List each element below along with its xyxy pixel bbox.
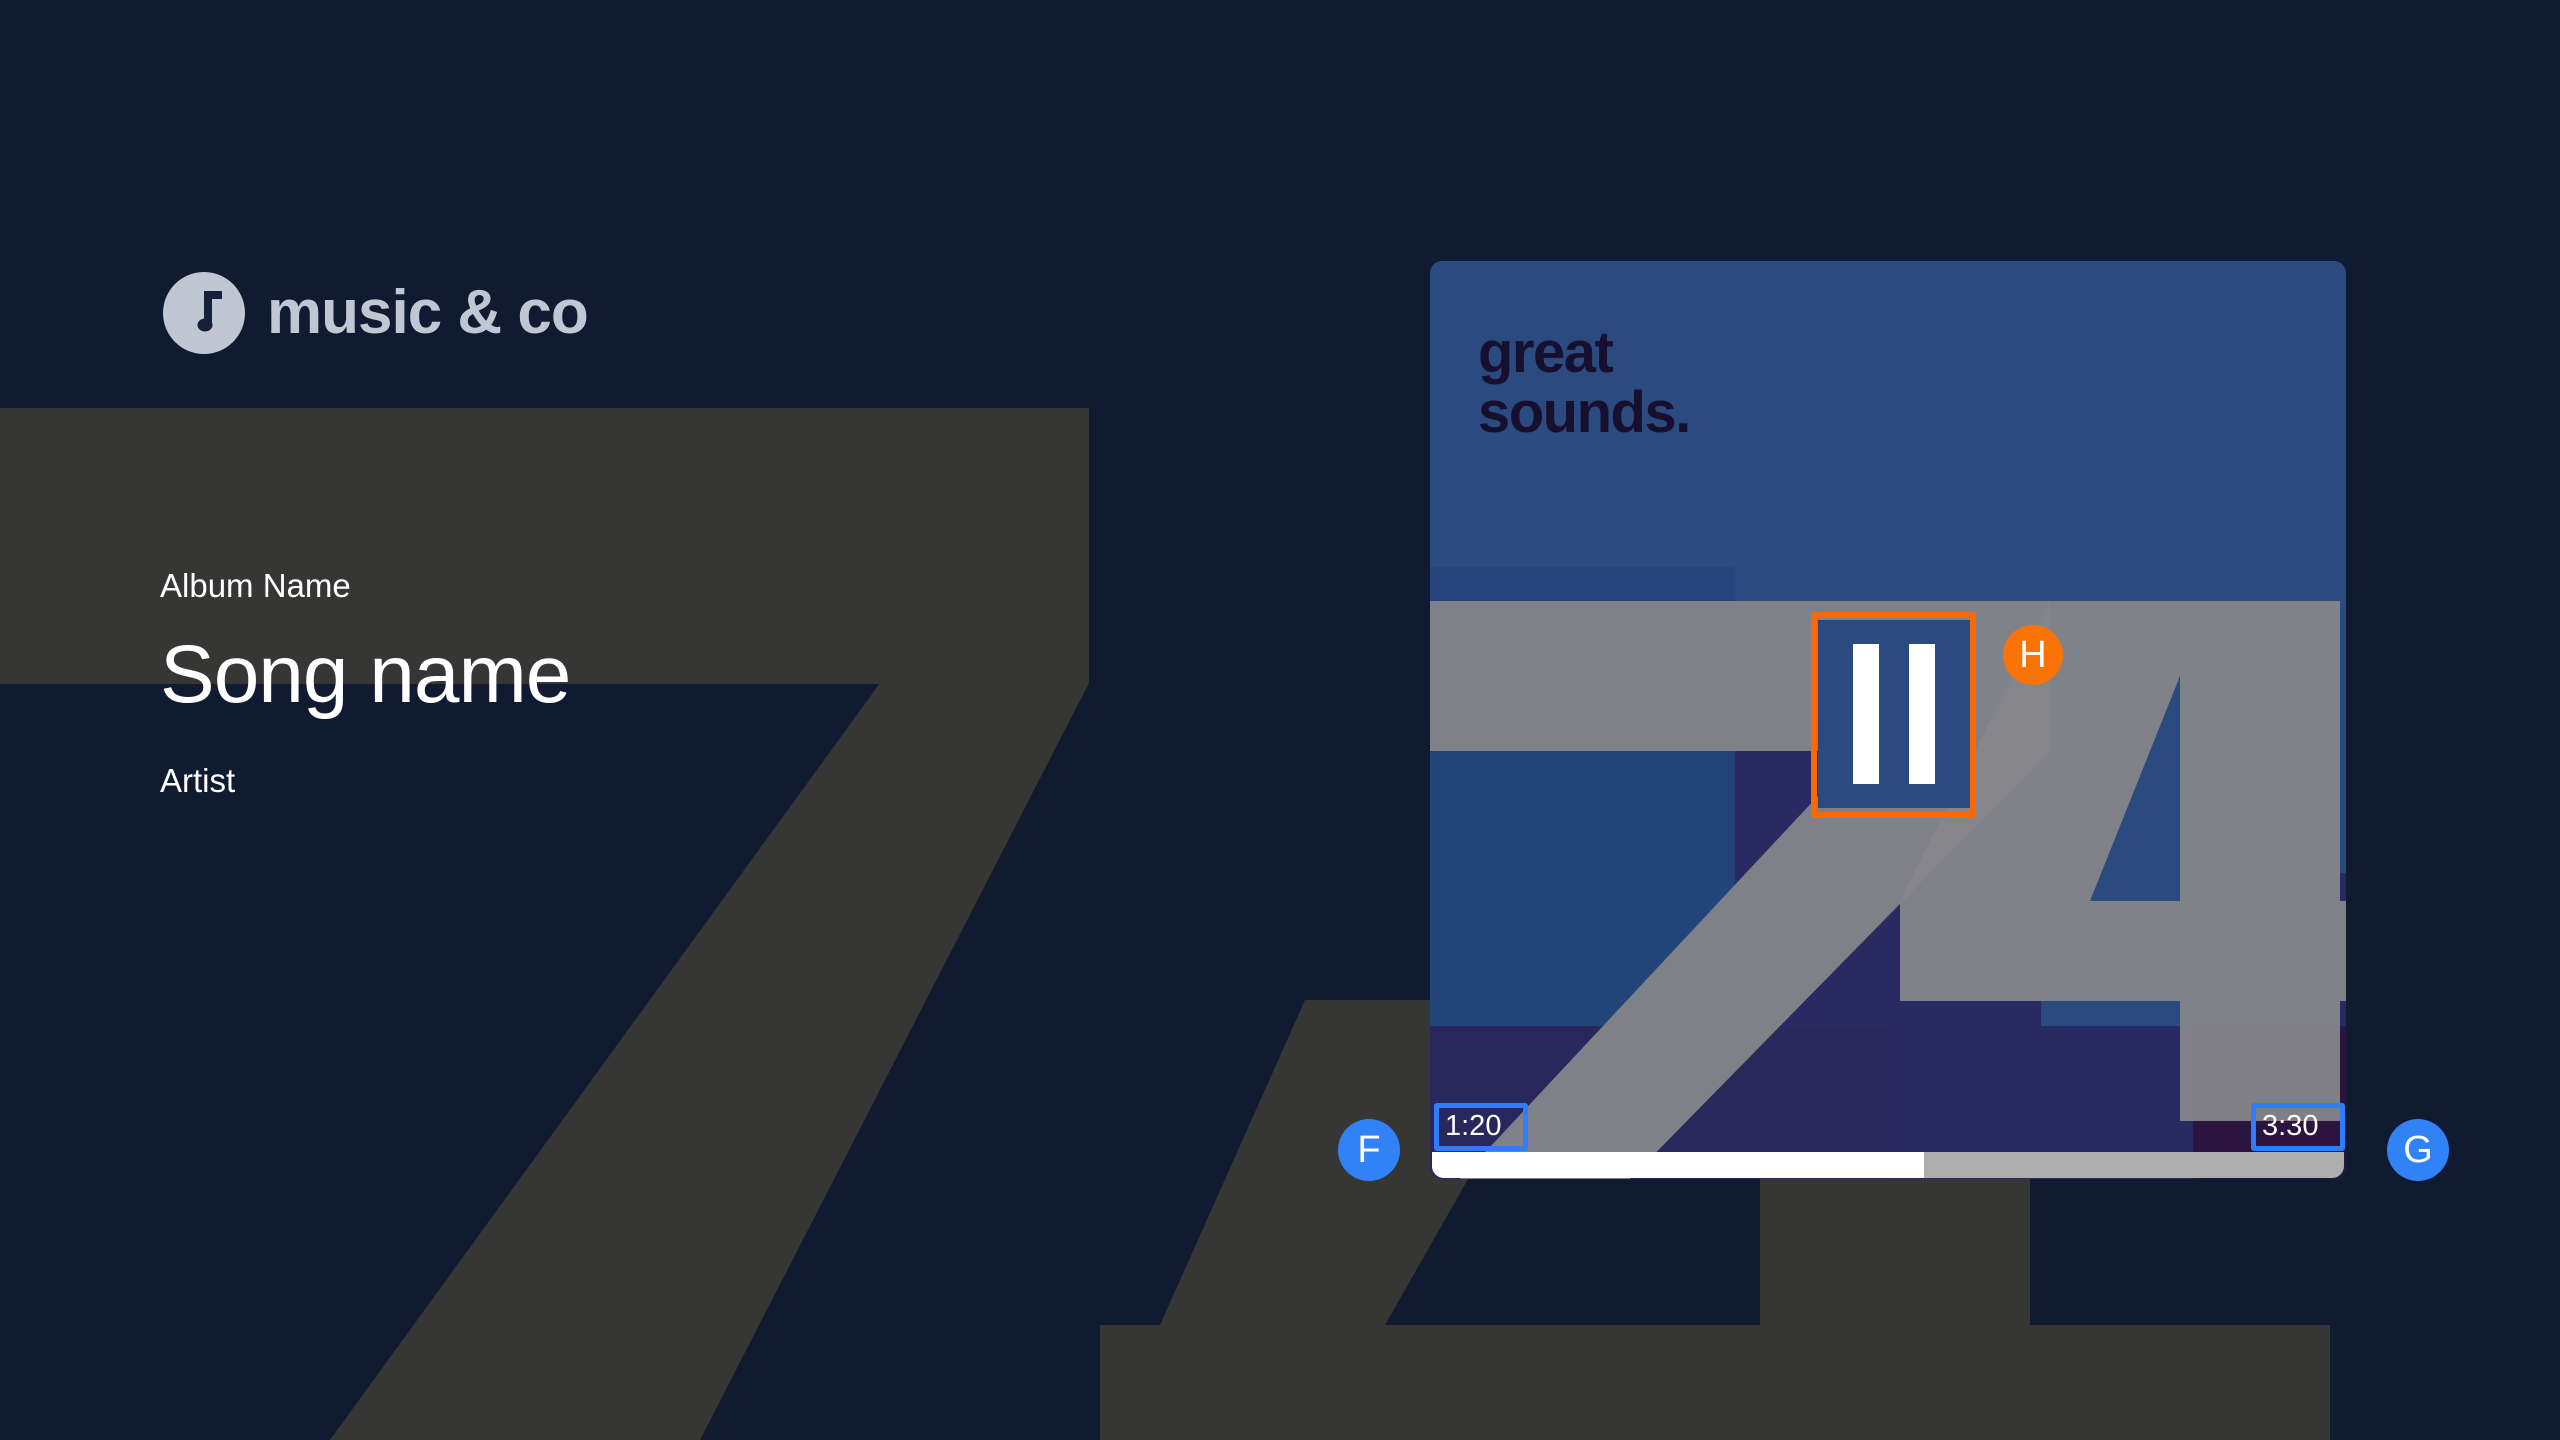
album-art-tile bbox=[1888, 261, 2041, 414]
album-art-tile bbox=[1888, 873, 2041, 1026]
album-art-tile bbox=[2041, 873, 2194, 1026]
album-art-tile bbox=[2193, 720, 2346, 873]
progress-bar[interactable] bbox=[1432, 1152, 2344, 1178]
brand-name: music & co bbox=[267, 282, 588, 344]
album-art-tile bbox=[1430, 567, 1583, 720]
album-art-title-line1: great bbox=[1478, 323, 1690, 383]
album-art-tile bbox=[1735, 873, 1888, 1026]
album-art-tile bbox=[1583, 720, 1736, 873]
pause-icon-bar-left bbox=[1853, 644, 1879, 784]
progress-bar-fill bbox=[1432, 1152, 1924, 1178]
album-art-title: great sounds. bbox=[1478, 323, 1690, 444]
current-time-label: 1:20 bbox=[1435, 1104, 1511, 1149]
album-art-tile bbox=[1430, 720, 1583, 873]
brand-logo[interactable]: music & co bbox=[163, 272, 588, 354]
album-art-tile bbox=[1888, 414, 2041, 567]
album-art-title-line2: sounds. bbox=[1478, 383, 1690, 443]
artist-name: Artist bbox=[160, 762, 570, 800]
pause-icon-bar-right bbox=[1909, 644, 1935, 784]
album-art-tile bbox=[1583, 873, 1736, 1026]
total-time-label: 3:30 bbox=[2252, 1104, 2328, 1149]
album-art-tile bbox=[2041, 567, 2194, 720]
album-art-tile bbox=[1430, 873, 1583, 1026]
album-art-tile bbox=[1735, 414, 1888, 567]
album-name-label: Album Name bbox=[160, 566, 570, 606]
album-art-tile bbox=[2193, 873, 2346, 1026]
album-art-tile bbox=[2041, 261, 2194, 414]
music-note-icon bbox=[163, 272, 245, 354]
album-art-tile bbox=[2193, 414, 2346, 567]
album-art-tile bbox=[2193, 261, 2346, 414]
annotation-marker-h: H bbox=[2003, 625, 2063, 685]
annotation-marker-f: F bbox=[1338, 1119, 1400, 1181]
album-art-tile bbox=[1735, 261, 1888, 414]
track-info: Album Name Song name Artist bbox=[160, 566, 570, 800]
album-art-tile bbox=[1583, 567, 1736, 720]
song-title: Song name bbox=[160, 628, 570, 722]
album-art-tile bbox=[2193, 567, 2346, 720]
album-art-tile bbox=[2041, 720, 2194, 873]
pause-button[interactable] bbox=[1818, 620, 1970, 808]
annotation-marker-g: G bbox=[2387, 1119, 2449, 1181]
album-art-tile bbox=[2041, 414, 2194, 567]
